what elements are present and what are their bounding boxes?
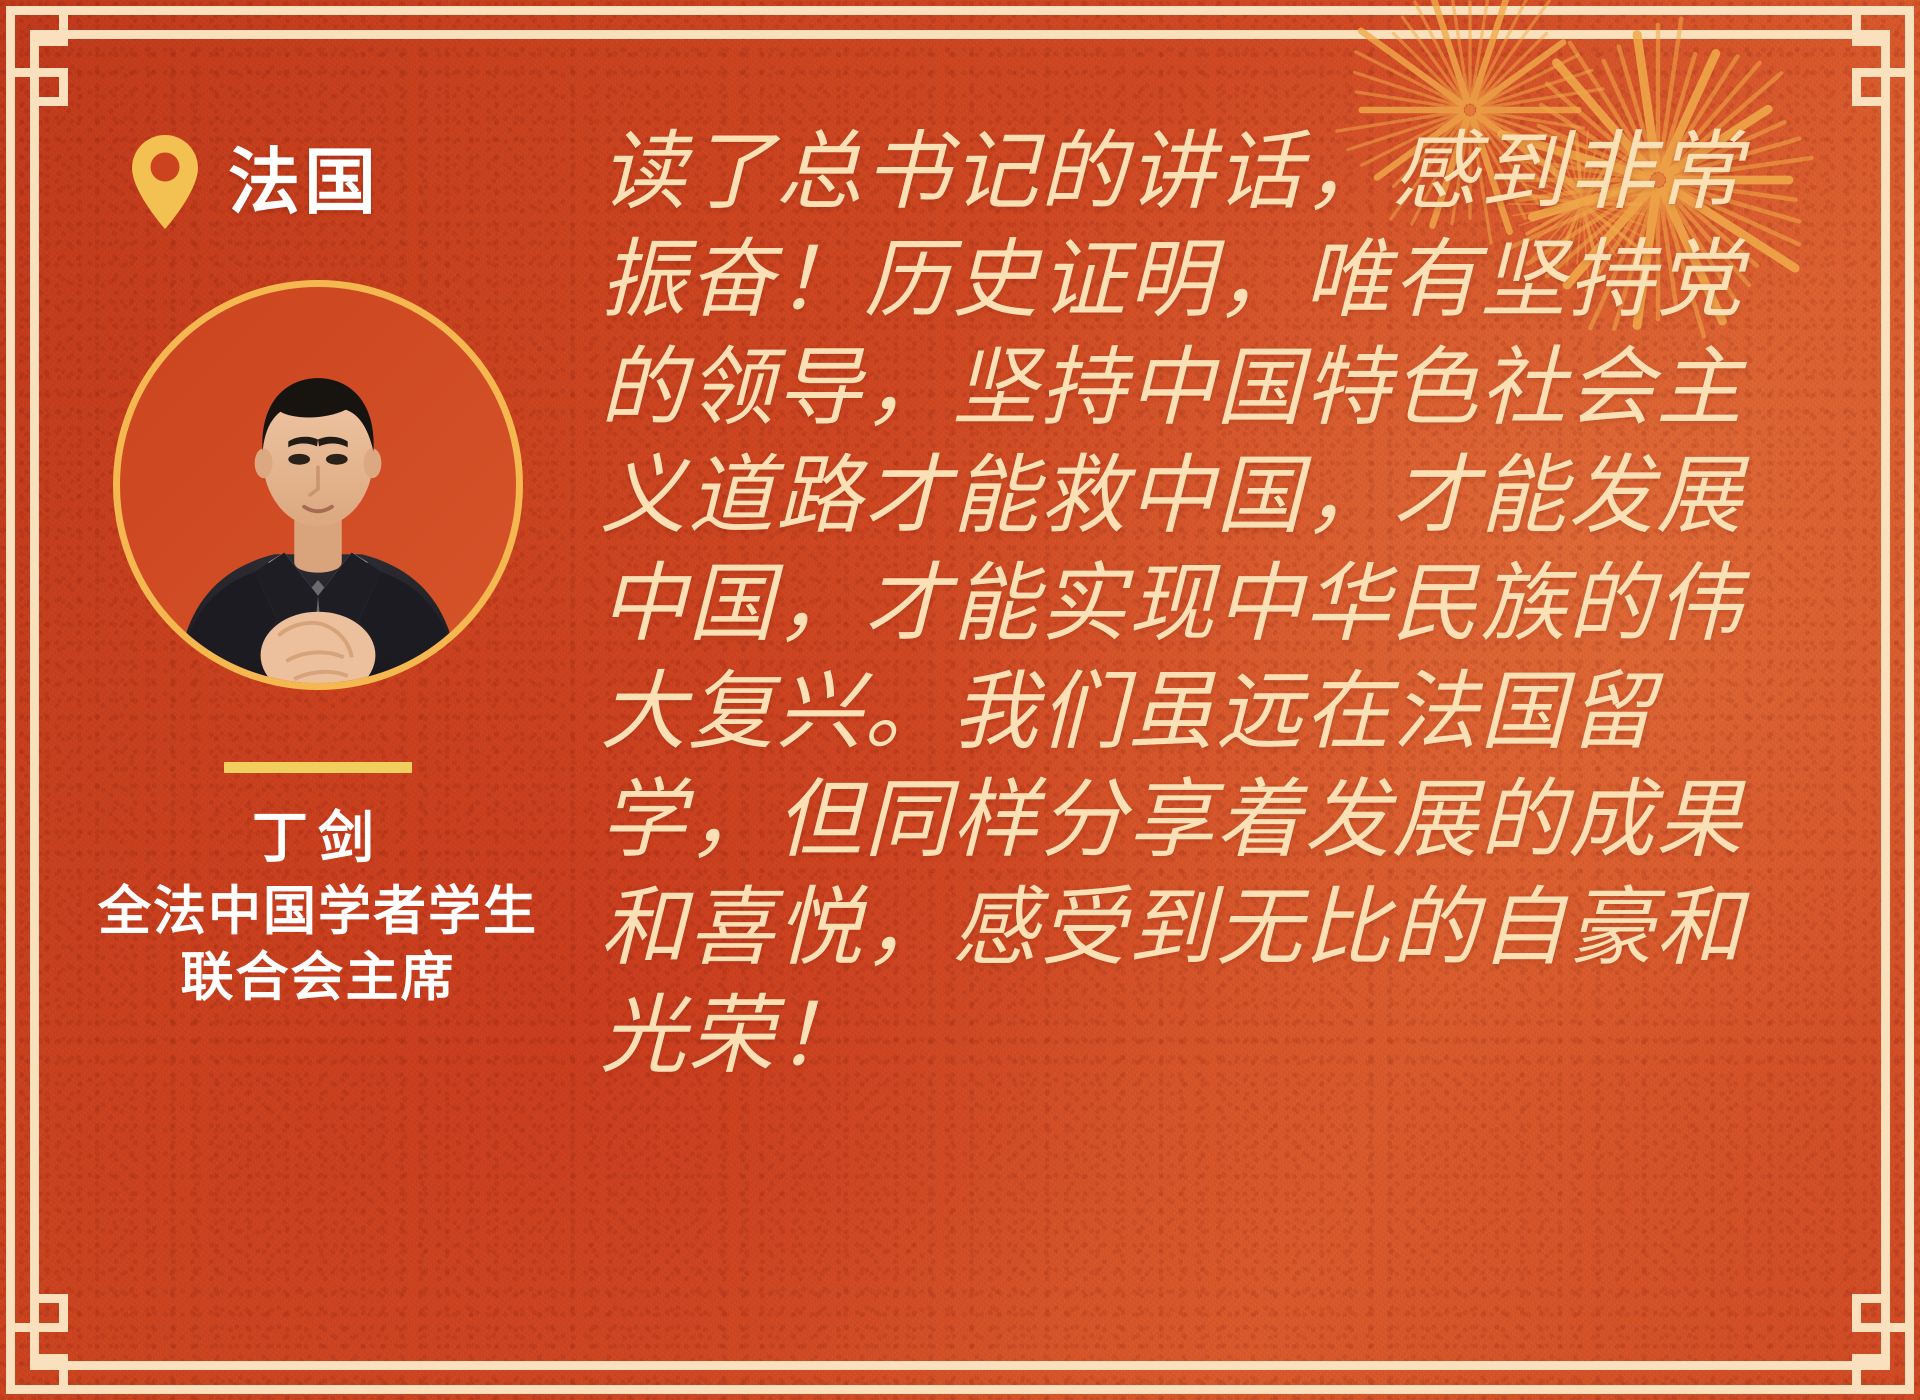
- quote-line-8: 和喜悦，感受到无比的自豪和: [600, 874, 1846, 982]
- person-title-line-1: 全法中国学者学生: [70, 879, 566, 945]
- person-title-line-2: 联合会主席: [70, 945, 566, 1011]
- corner-ornament-bottom-right: [1760, 1240, 1920, 1400]
- quote-line-6: 大复兴。我们虽远在法国留: [600, 658, 1846, 766]
- quote-text: 读了总书记的讲话，感到非常 振奋！历史证明，唯有坚持党 的领导，坚持中国特色社会…: [600, 118, 1846, 1090]
- corner-ornament-bottom-left: [0, 1240, 160, 1400]
- avatar-gold-ring: [113, 280, 523, 690]
- location-badge: 法国: [70, 128, 566, 236]
- profile-column: 法国: [70, 128, 566, 1011]
- avatar: [113, 280, 523, 690]
- quote-line-7: 学，但同样分享着发展的成果: [600, 766, 1846, 874]
- person-name: 丁剑: [70, 809, 566, 869]
- gold-divider: [224, 762, 412, 773]
- person-title: 全法中国学者学生 联合会主席: [70, 879, 566, 1010]
- quote-line-2: 振奋！历史证明，唯有坚持党: [600, 226, 1846, 334]
- poster-canvas: 法国: [0, 0, 1920, 1400]
- quote-line-4: 义道路才能救中国，才能发展: [600, 442, 1846, 550]
- quote-line-5: 中国，才能实现中华民族的伟: [600, 550, 1846, 658]
- quote-line-1: 读了总书记的讲话，感到非常: [600, 118, 1846, 226]
- country-label: 法国: [228, 146, 380, 218]
- quote-line-3: 的领导，坚持中国特色社会主: [600, 334, 1846, 442]
- location-pin-icon: [126, 133, 204, 231]
- quote-line-9: 光荣！: [600, 982, 1846, 1090]
